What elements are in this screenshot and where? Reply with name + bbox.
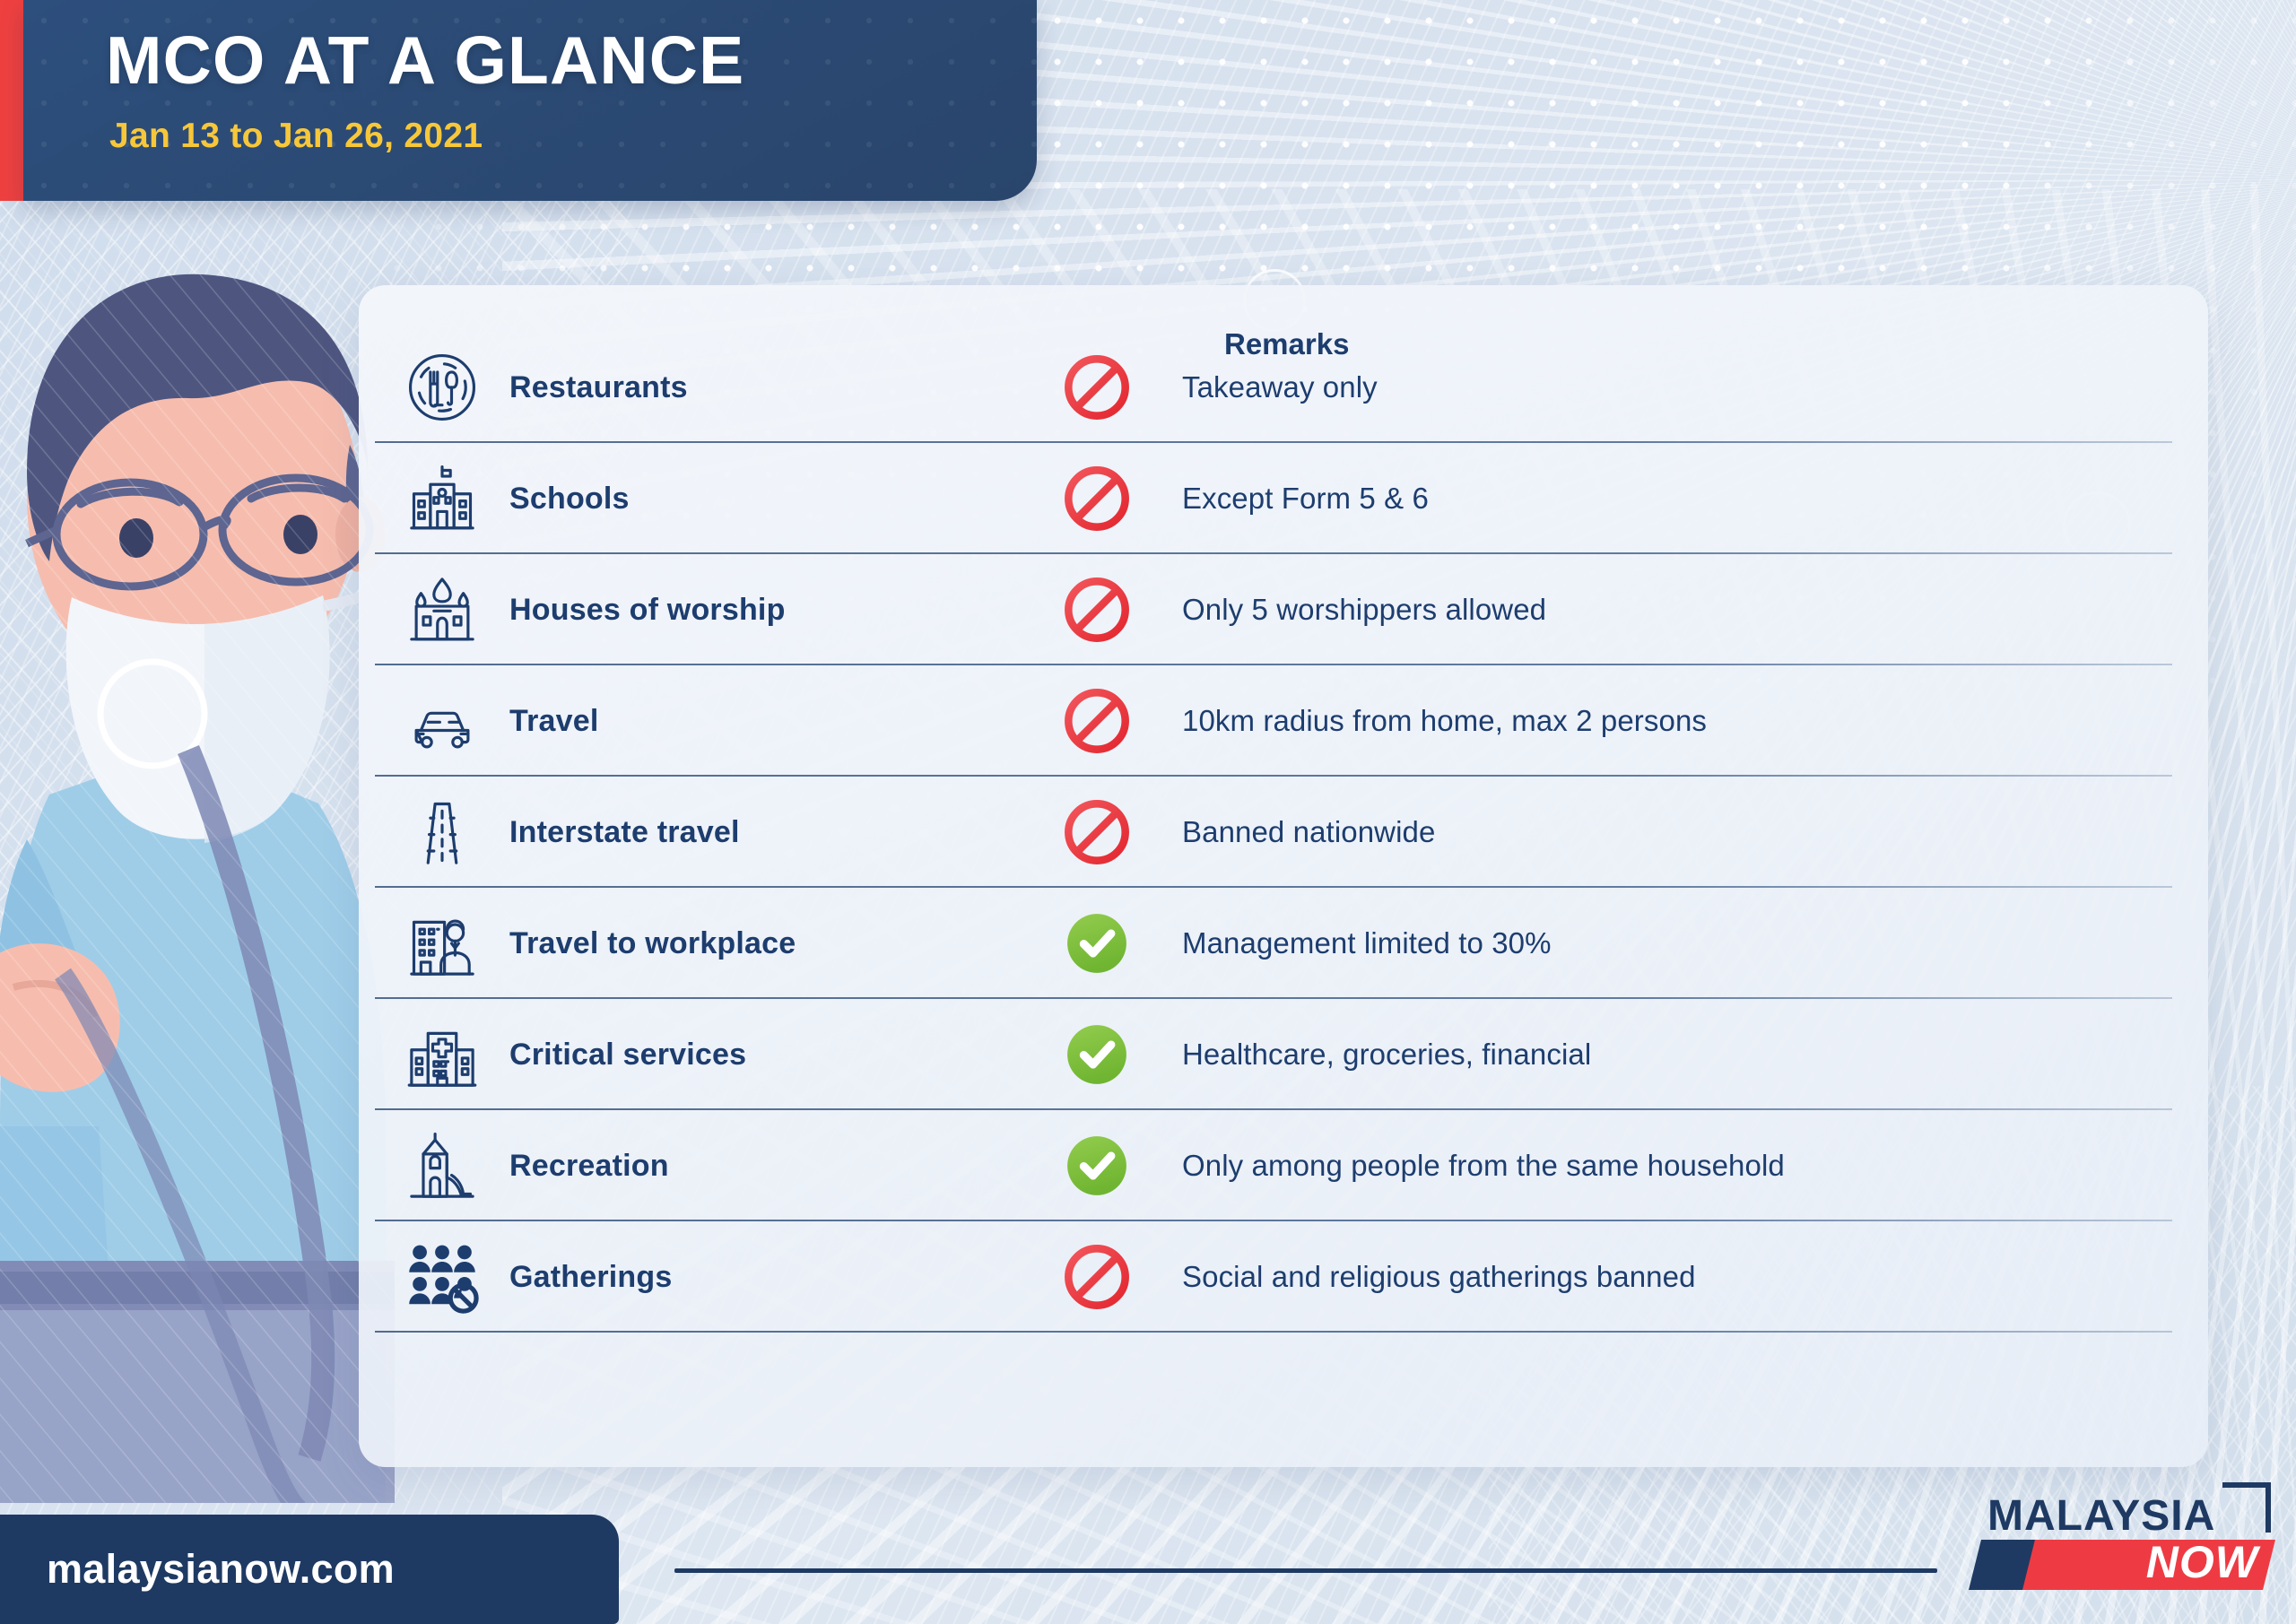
people-group-banned-icon (375, 1239, 509, 1315)
row-category-label: Travel (509, 704, 1012, 739)
row-category-label: Critical services (509, 1038, 1012, 1073)
status-banned-icon (1012, 575, 1182, 645)
table-row: Travel to workplaceManagement limited to… (375, 888, 2181, 999)
table-row: SchoolsExcept Form 5 & 6 (375, 443, 2181, 554)
table-row: RecreationOnly among people from the sam… (375, 1110, 2181, 1221)
row-remark-text: 10km radius from home, max 2 persons (1182, 704, 1707, 738)
malaysianow-logo: MALAYSIA NOW (1975, 1479, 2271, 1597)
red-accent-stripe (0, 0, 23, 201)
row-category-label: Houses of worship (509, 593, 1012, 628)
row-category-label: Travel to workplace (509, 926, 1012, 961)
table-row: Critical servicesHealthcare, groceries, … (375, 999, 2181, 1110)
table-row: GatheringsSocial and religious gathering… (375, 1221, 2181, 1333)
row-category-label: Interstate travel (509, 815, 1012, 850)
status-banned-icon (1012, 686, 1182, 756)
row-remark-text: Except Form 5 & 6 (1182, 482, 1429, 516)
status-banned-icon (1012, 464, 1182, 534)
date-range: Jan 13 to Jan 26, 2021 (109, 117, 483, 156)
mosque-icon (375, 572, 509, 647)
car-icon (375, 683, 509, 759)
status-allowed-icon (1012, 1020, 1182, 1090)
table-row: Interstate travelBanned nationwide (375, 777, 2181, 888)
header-panel: MCO AT A GLANCE Jan 13 to Jan 26, 2021 (23, 0, 1037, 201)
row-remark-text: Social and religious gatherings banned (1182, 1260, 1696, 1294)
school-building-icon (375, 461, 509, 536)
row-category-label: Gatherings (509, 1260, 1012, 1295)
table-row: Houses of worshipOnly 5 worshippers allo… (375, 554, 2181, 665)
status-allowed-icon (1012, 1131, 1182, 1201)
row-remark-text: Only among people from the same househol… (1182, 1149, 1785, 1183)
hospital-icon (375, 1017, 509, 1092)
status-banned-icon (1012, 797, 1182, 867)
status-allowed-icon (1012, 908, 1182, 978)
row-remark-text: Healthcare, groceries, financial (1182, 1038, 1591, 1072)
status-banned-icon (1012, 1242, 1182, 1312)
website-footer-bar: malaysianow.com (0, 1515, 619, 1624)
row-remark-text: Management limited to 30% (1182, 926, 1552, 960)
status-banned-icon (1012, 352, 1182, 422)
plate-cutlery-icon (375, 350, 509, 425)
row-remark-text: Only 5 worshippers allowed (1182, 593, 1546, 627)
row-divider (375, 1331, 2172, 1333)
highway-icon (375, 795, 509, 870)
row-category-label: Restaurants (509, 370, 1012, 405)
row-category-label: Schools (509, 482, 1012, 517)
row-remark-text: Takeaway only (1182, 370, 1378, 404)
table-row: RestaurantsTakeaway only (375, 332, 2181, 443)
office-worker-icon (375, 906, 509, 981)
row-remark-text: Banned nationwide (1182, 815, 1435, 849)
logo-corner-bracket-icon (2222, 1482, 2271, 1533)
table-row: Travel10km radius from home, max 2 perso… (375, 665, 2181, 777)
row-category-label: Recreation (509, 1149, 1012, 1184)
page-title: MCO AT A GLANCE (106, 27, 744, 94)
logo-wordmark-now: NOW (2146, 1536, 2258, 1588)
website-url[interactable]: malaysianow.com (47, 1546, 395, 1593)
logo-wordmark-malaysia: MALAYSIA (1987, 1491, 2215, 1541)
playground-icon (375, 1128, 509, 1203)
footer-divider-line (674, 1568, 1937, 1573)
